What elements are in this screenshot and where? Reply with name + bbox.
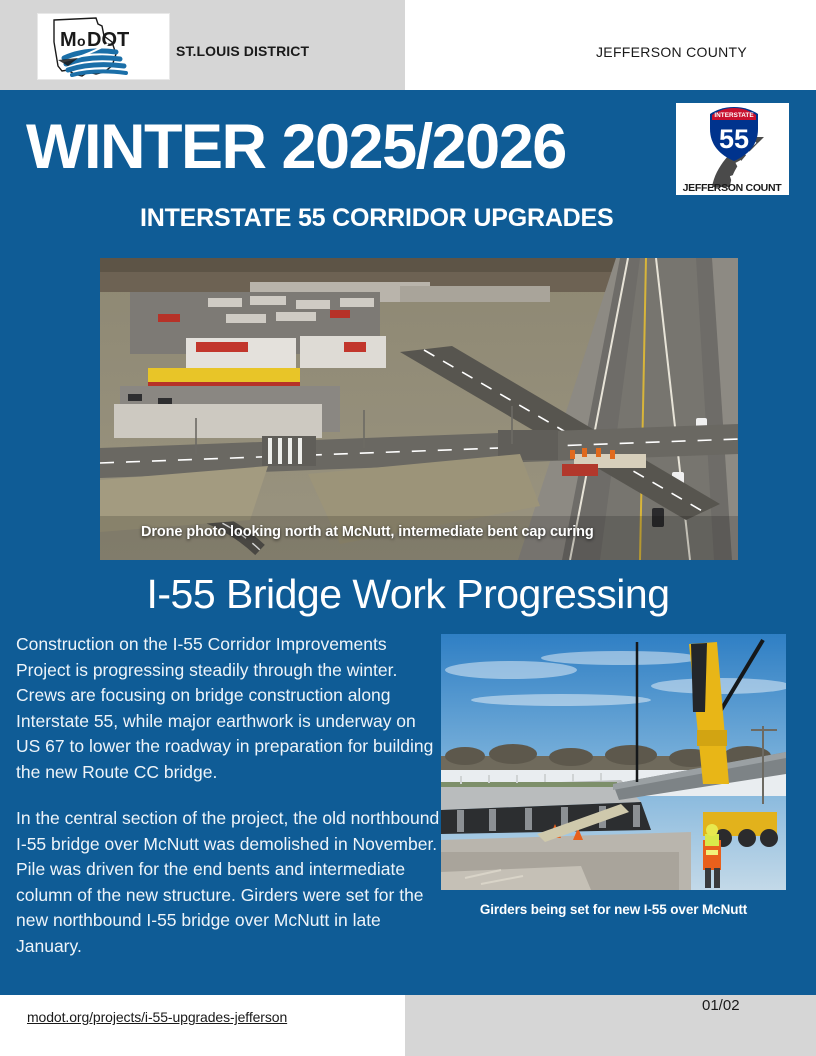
- modot-logo-icon: M o DOT: [38, 14, 171, 81]
- secondary-photo-caption: Girders being set for new I-55 over McNu…: [441, 902, 786, 917]
- interstate-55-badge: INTERSTATE 55 JEFFERSON COUNT: [676, 103, 789, 195]
- page-footer: modot.org/projects/i-55-upgrades-jeffers…: [0, 995, 816, 1056]
- district-label: ST.LOUIS DISTRICT: [176, 43, 309, 59]
- badge-banner-text: INTERSTATE: [714, 112, 754, 119]
- badge-number-text: 55: [719, 124, 749, 154]
- article-paragraph-1: Construction on the I-55 Corridor Improv…: [16, 632, 441, 785]
- article-body: Construction on the I-55 Corridor Improv…: [16, 632, 441, 959]
- svg-text:o: o: [77, 33, 86, 49]
- page-title: WINTER 2025/2026: [26, 116, 566, 179]
- footer-gray-band: [405, 995, 816, 1056]
- article-headline: I-55 Bridge Work Progressing: [0, 571, 816, 618]
- interstate-shield-icon: INTERSTATE 55 JEFFERSON COUNT: [676, 103, 789, 195]
- main-photo-caption: Drone photo looking north at McNutt, int…: [141, 524, 594, 540]
- hero-section: WINTER 2025/2026 INTERSTATE 55 CORRIDOR …: [0, 90, 816, 995]
- svg-text:DOT: DOT: [87, 29, 129, 51]
- page-subtitle: INTERSTATE 55 CORRIDOR UPGRADES: [140, 204, 613, 233]
- article-paragraph-2: In the central section of the project, t…: [16, 806, 441, 959]
- badge-footer-text: JEFFERSON COUNT: [683, 182, 783, 194]
- project-url-link[interactable]: modot.org/projects/i-55-upgrades-jeffers…: [27, 1009, 287, 1025]
- main-photo: Drone photo looking north at McNutt, int…: [100, 258, 738, 560]
- modot-logo: M o DOT: [37, 13, 170, 80]
- page-number: 01/02: [702, 997, 740, 1014]
- svg-text:M: M: [60, 29, 77, 51]
- girder-photo-image: [441, 634, 786, 890]
- drone-photo-image: [100, 258, 738, 560]
- secondary-photo: [441, 634, 786, 890]
- county-label: JEFFERSON COUNTY: [596, 44, 747, 60]
- page-header: M o DOT ST.LOUIS DISTRICT JEFFERSON COUN…: [0, 0, 816, 90]
